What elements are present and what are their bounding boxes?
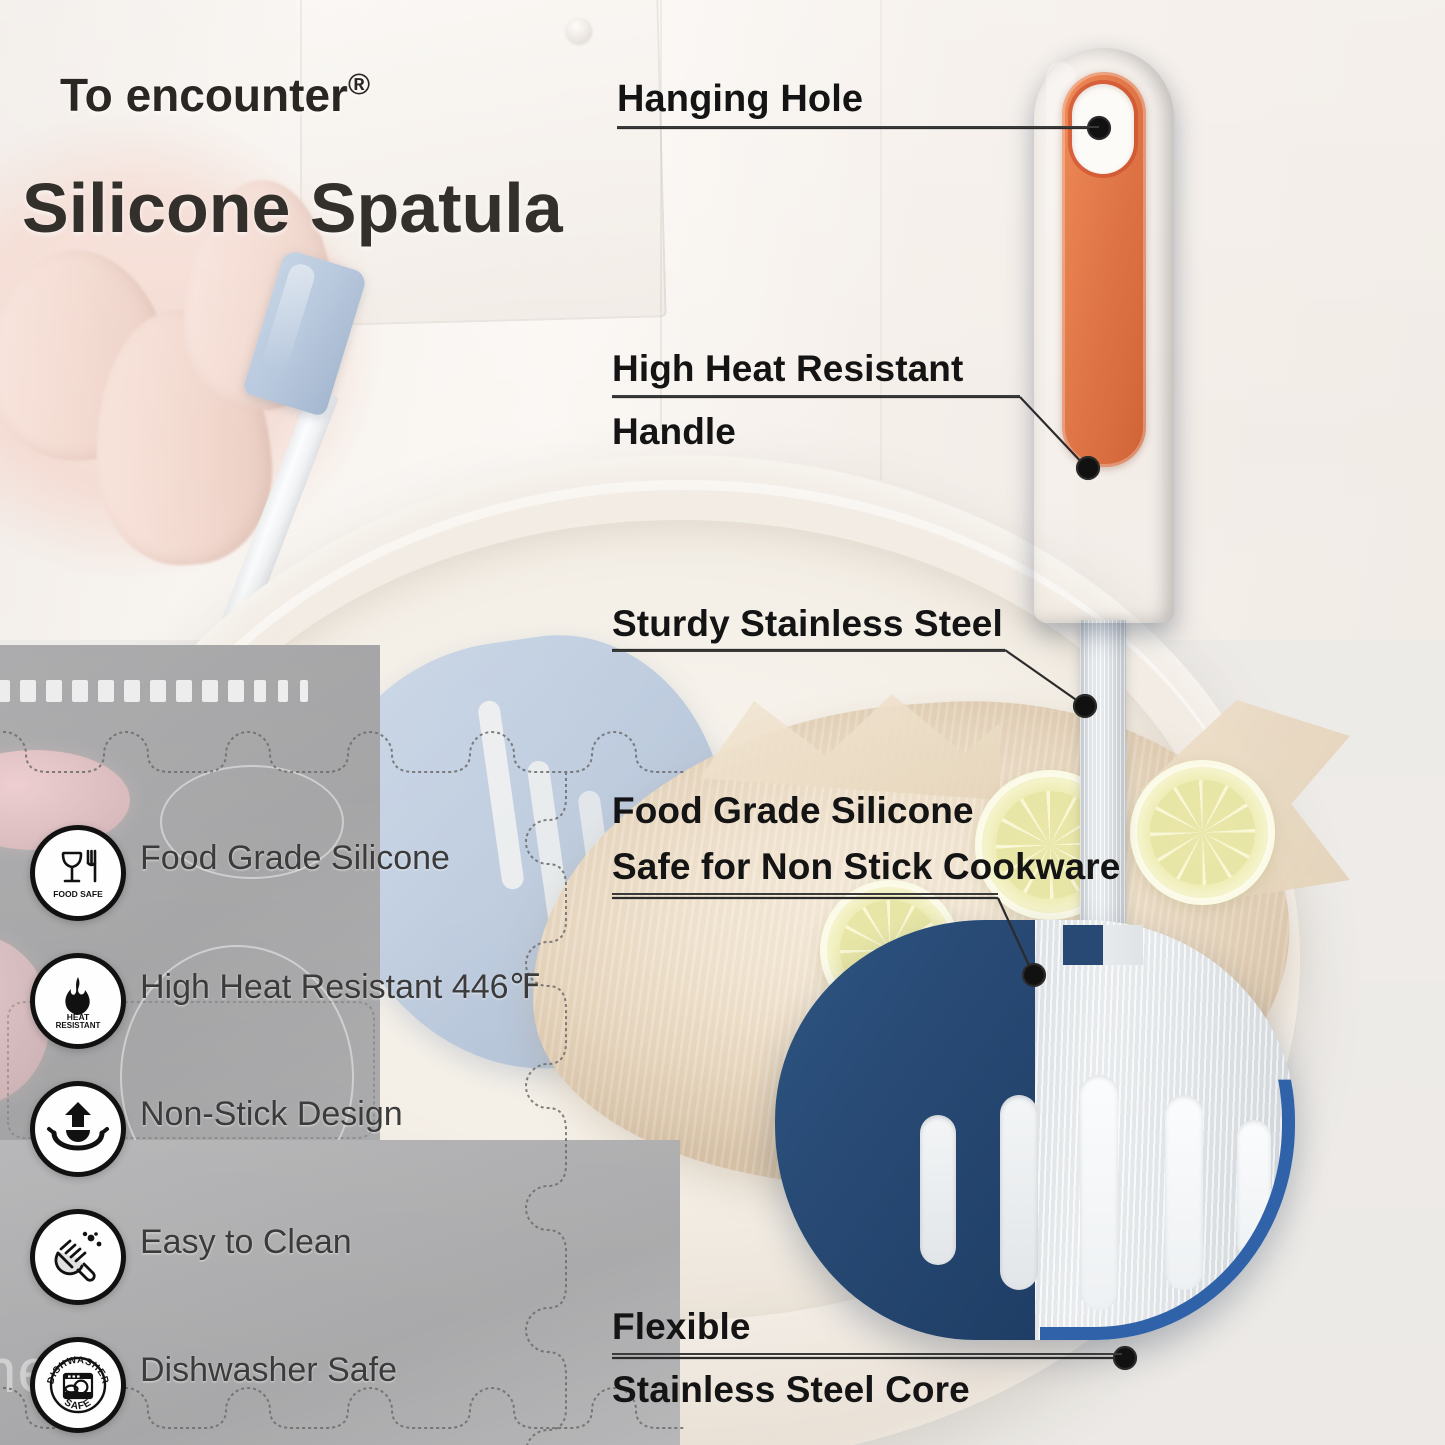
spatula-slot	[1000, 1095, 1038, 1290]
callout-sturdy-stainless-steel: Sturdy Stainless Steel	[612, 603, 1005, 652]
callout-line: Flexible	[612, 1306, 1122, 1348]
spatula-steel-shaft	[1080, 620, 1126, 950]
feature-label: High Heat Resistant 446℉	[140, 967, 541, 1007]
feature-item-high-heat-resistant: HEAT RESISTANT High Heat Resistant 446℉	[30, 953, 550, 1081]
callout-line: High Heat Resistant	[612, 348, 1020, 390]
non-stick-icon	[30, 1081, 126, 1177]
spatula-slot	[920, 1115, 956, 1265]
badge-caption: FOOD SAFE	[53, 889, 103, 899]
callout-high-heat-resistant-handle: High Heat Resistant Handle	[612, 348, 1020, 453]
feature-item-dishwasher-safe: DISHWASHER SAFE	[30, 1337, 550, 1445]
feature-label: Food Grade Silicone	[140, 839, 450, 878]
spatula-neck	[1063, 925, 1143, 965]
callout-rule	[612, 395, 1020, 397]
callout-food-grade-silicone: Food Grade Silicone Safe for Non Stick C…	[612, 790, 1121, 895]
callout-line: Hanging Hole	[617, 78, 1099, 121]
callout-line: Sturdy Stainless Steel	[612, 603, 1005, 645]
callout-line: Safe for Non Stick Cookware	[612, 846, 1121, 888]
brand-label: To encounter	[60, 69, 348, 121]
brand-name: To encounter®	[60, 68, 370, 122]
feature-item-non-stick-design: Non-Stick Design	[30, 1081, 550, 1209]
feature-label: Non-Stick Design	[140, 1095, 403, 1134]
callout-line: Stainless Steel Core	[612, 1369, 1122, 1411]
dishwasher-safe-icon: DISHWASHER SAFE	[30, 1337, 126, 1433]
callout-rule	[612, 893, 998, 895]
callout-line: Handle	[612, 411, 1020, 453]
feature-list: FOOD SAFE Food Grade Silicone HEAT RESIS…	[30, 825, 550, 1445]
callout-flexible-stainless-steel-core: Flexible Stainless Steel Core	[612, 1306, 1122, 1411]
infographic-canvas: 火力 定时 童锁 功能 ner	[0, 0, 1445, 1445]
callout-rule	[612, 1353, 1122, 1355]
callout-rule	[612, 650, 1005, 652]
feature-label: Dishwasher Safe	[140, 1351, 397, 1390]
easy-to-clean-icon	[30, 1209, 126, 1305]
callout-rule	[617, 126, 1099, 128]
heat-resistant-icon: HEAT RESISTANT	[30, 953, 126, 1049]
feature-label: Easy to Clean	[140, 1223, 352, 1262]
feature-item-food-grade-silicone: FOOD SAFE Food Grade Silicone	[30, 825, 550, 953]
food-safe-icon: FOOD SAFE	[30, 825, 126, 921]
callout-line: Food Grade Silicone	[612, 790, 1121, 832]
page-title: Silicone Spatula	[22, 168, 563, 248]
feature-item-easy-to-clean: Easy to Clean	[30, 1209, 550, 1337]
registered-mark: ®	[348, 69, 370, 102]
svg-text:RESISTANT: RESISTANT	[56, 1021, 101, 1030]
callout-hanging-hole: Hanging Hole	[617, 78, 1099, 128]
spatula-head-silicone-half	[775, 920, 1035, 1340]
